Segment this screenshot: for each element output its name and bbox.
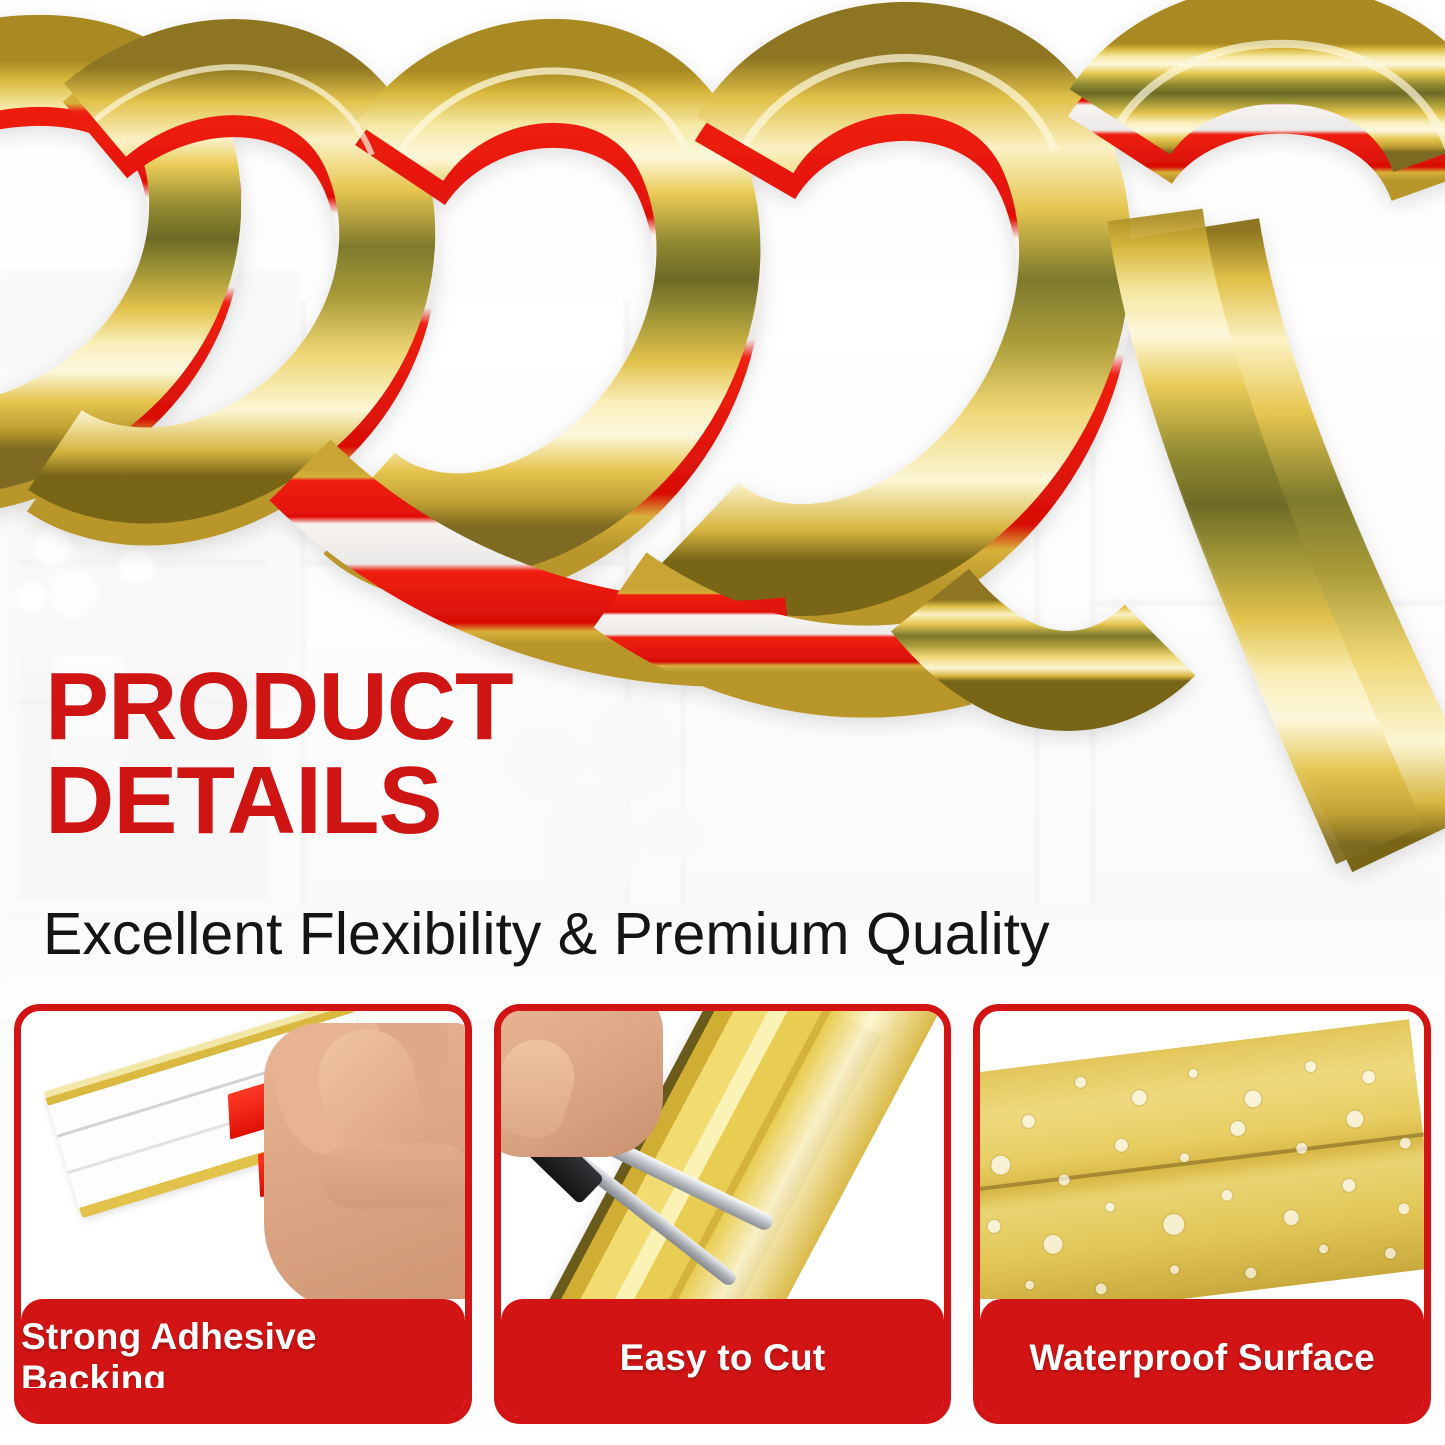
feature-photo-adhesive-peel — [21, 1011, 465, 1299]
feature-photo-water-droplets — [980, 1011, 1424, 1299]
finger-graphic — [501, 1031, 583, 1146]
feature-card-waterproof-surface: Waterproof Surface — [973, 1004, 1431, 1424]
feature-photo-scissors-cutting — [501, 1011, 945, 1299]
feature-caption-strong-adhesive-backing: Strong Adhesive Backing — [21, 1299, 465, 1417]
feature-card-list: Strong Adhesive Backing Easy to Cut — [14, 1004, 1431, 1424]
water-droplets-graphic — [980, 1019, 1424, 1299]
hand-graphic — [264, 1023, 465, 1299]
feature-card-strong-adhesive-backing: Strong Adhesive Backing — [14, 1004, 472, 1424]
headline-line-1: PRODUCT — [45, 660, 1045, 754]
hand-graphic — [501, 1011, 663, 1157]
product-details-poster: PRODUCT DETAILS Excellent Flexibility & … — [0, 0, 1445, 1445]
feature-caption-easy-to-cut: Easy to Cut — [501, 1299, 945, 1417]
headline-line-2: DETAILS — [45, 754, 1045, 848]
feature-caption-waterproof-surface: Waterproof Surface — [980, 1299, 1424, 1417]
knuckles-graphic — [321, 1143, 465, 1209]
page-title: PRODUCT DETAILS — [45, 660, 1045, 848]
thumb-graphic — [309, 1020, 428, 1157]
feature-card-easy-to-cut: Easy to Cut — [494, 1004, 952, 1424]
subtitle: Excellent Flexibility & Premium Quality — [43, 905, 1050, 964]
